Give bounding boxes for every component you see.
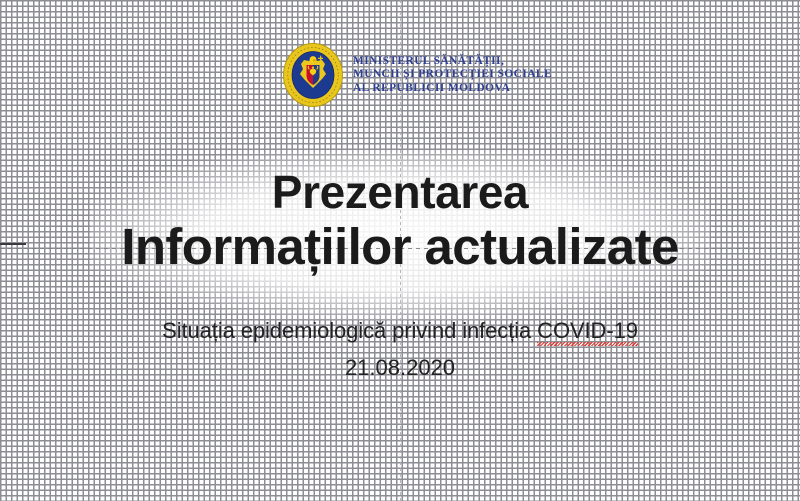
title-line-1: Prezentarea — [0, 168, 800, 217]
title-line-2: Informațiilor actualizate — [0, 219, 800, 274]
slide-subtitle[interactable]: Situația epidemiologică privind infecția… — [0, 318, 800, 381]
ministry-line-2: MUNCII ȘI PROTECȚIEI SOCIALE — [353, 68, 552, 81]
ministry-line-1: MINISTERUL SĂNĂTĂȚII, — [353, 55, 552, 68]
slide-canvas[interactable]: MINISTERUL SĂNĂTĂȚII, MUNCII ȘI PROTECȚI… — [0, 0, 800, 501]
moldova-coat-of-arms-icon — [282, 42, 344, 108]
ministry-wordmark: MINISTERUL SĂNĂTĂȚII, MUNCII ȘI PROTECȚI… — [353, 55, 552, 95]
spellchecked-term[interactable]: COVID-19 — [537, 318, 638, 344]
subtitle-date: 21.08.2020 — [0, 355, 800, 381]
subtitle-text: Situația epidemiologică privind infecția — [162, 318, 537, 343]
ministry-line-3: AL REPUBLICII MOLDOVA — [353, 82, 552, 95]
subtitle-line: Situația epidemiologică privind infecția… — [0, 318, 800, 344]
ministry-header[interactable]: MINISTERUL SĂNĂTĂȚII, MUNCII ȘI PROTECȚI… — [282, 42, 552, 108]
slide-title[interactable]: Prezentarea Informațiilor actualizate — [0, 168, 800, 274]
